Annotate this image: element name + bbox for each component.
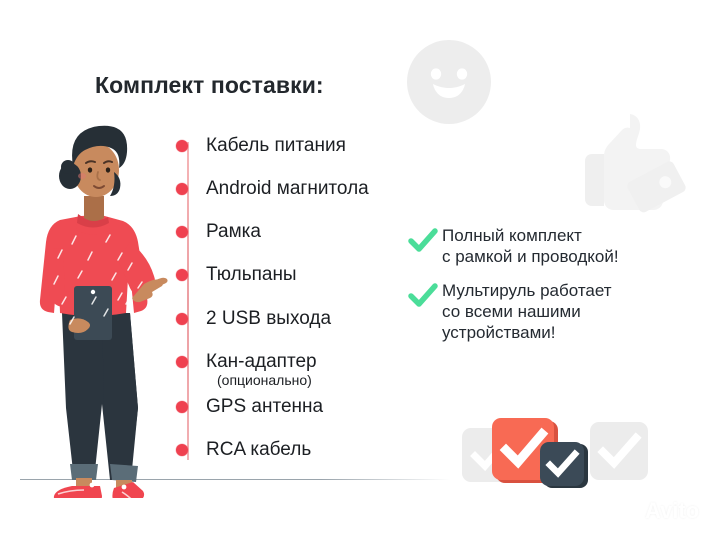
bullet-dot-icon [176, 356, 188, 368]
list-item-label: Android магнитола [206, 179, 369, 200]
list-item: Рамка [176, 222, 261, 243]
page-title: Комплект поставки: [95, 72, 324, 99]
woman-pointing-illustration [18, 108, 183, 498]
bullet-dot-icon [176, 401, 188, 413]
list-item-label: RCA кабель [206, 440, 311, 461]
smiley-face-icon [405, 38, 493, 126]
list-item: RCA кабель [176, 440, 311, 461]
thumbs-up-icon [578, 108, 694, 224]
list-item-label: Кан-адаптер [206, 352, 317, 373]
avito-logo-icon [622, 501, 642, 521]
list-item-label: GPS антенна [206, 397, 323, 418]
list-item: Тюльпаны [176, 265, 297, 286]
list-item: Кан-адаптер [176, 352, 317, 373]
bullet-dot-icon [176, 313, 188, 325]
list-item-label: 2 USB выхода [206, 309, 331, 330]
list-item: Кабель питания [176, 136, 346, 157]
list-item: 2 USB выхода [176, 309, 331, 330]
green-check-icon [408, 283, 438, 309]
benefit-item: Полный комплект с рамкой и проводкой! [408, 226, 708, 267]
avito-watermark: Avito [622, 500, 699, 522]
promo-image-canvas: Комплект поставки: Кабель питания Androi… [0, 0, 720, 540]
list-item-label: Тюльпаны [206, 265, 297, 286]
benefit-label: Мультируль работает со всеми нашими устр… [442, 281, 612, 343]
list-item-label: Рамка [206, 222, 261, 243]
checkbox-dark [540, 442, 584, 486]
benefit-item: Мультируль работает со всеми нашими устр… [408, 281, 708, 343]
benefit-label: Полный комплект с рамкой и проводкой! [442, 226, 619, 267]
avito-wordmark: Avito [645, 500, 699, 522]
checkbox-gray-right [590, 422, 648, 480]
list-item: GPS антенна [176, 397, 323, 418]
benefits-list: Полный комплект с рамкой и проводкой! Му… [408, 226, 708, 358]
bullet-dot-icon [176, 444, 188, 456]
bullet-dot-icon [176, 140, 188, 152]
green-check-icon [408, 228, 438, 254]
bullet-dot-icon [176, 183, 188, 195]
bullet-dot-icon [176, 226, 188, 238]
list-item-label: Кабель питания [206, 136, 346, 157]
checkbox-cluster-icon [462, 418, 642, 486]
bullet-dot-icon [176, 269, 188, 281]
list-item-sublabel: (опционально) [217, 372, 312, 388]
list-item: Android магнитола [176, 179, 369, 200]
